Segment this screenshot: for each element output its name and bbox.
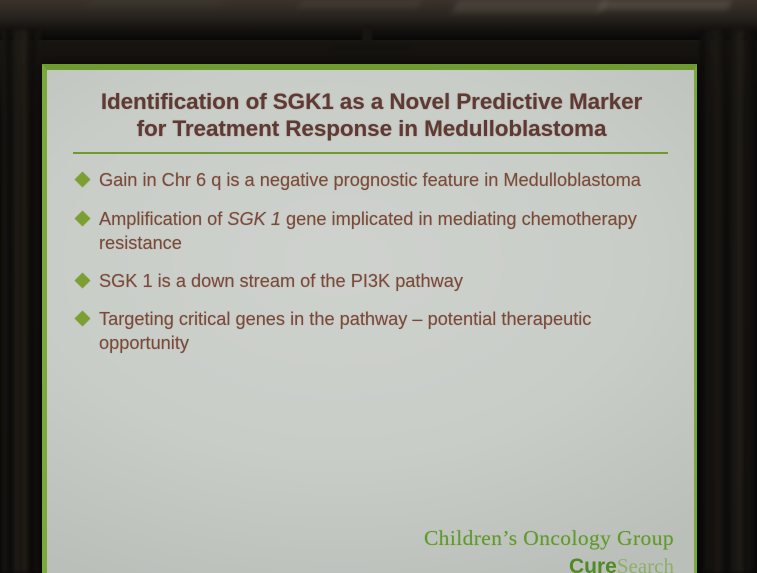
ceiling-panel <box>298 0 423 8</box>
curtain-fold <box>745 30 757 573</box>
diamond-bullet-icon <box>75 172 91 188</box>
bullet-text-pre: SGK 1 is a down stream of the PI3K pathw… <box>99 271 463 291</box>
bullet-text: Targeting critical genes in the pathway … <box>99 307 654 355</box>
ceiling-panel <box>452 0 608 13</box>
ceiling-panel <box>598 0 732 10</box>
curtain-fold <box>700 30 712 573</box>
list-item: Targeting critical genes in the pathway … <box>73 307 670 355</box>
bullet-text: Amplification of SGK 1 gene implicated i… <box>99 207 654 255</box>
ceiling-panel <box>89 0 221 6</box>
bullet-text-pre: Amplification of <box>99 209 227 229</box>
curtain-fold <box>21 30 31 573</box>
organization-name: Children’s Oncology Group <box>424 526 674 551</box>
diamond-bullet-icon <box>75 273 91 289</box>
room-scene: Identification of SGK1 as a Novel Predic… <box>0 0 757 573</box>
list-item: SGK 1 is a down stream of the PI3K pathw… <box>73 269 670 293</box>
slide-title-line-1: Identification of SGK1 as a Novel Predic… <box>77 88 666 115</box>
projector-mount-bar <box>330 45 410 51</box>
ceiling-band <box>0 0 757 40</box>
curtain-fold <box>713 30 727 573</box>
footer-logo: Children’s Oncology Group CureSearch <box>424 526 674 573</box>
curtain-fold <box>12 30 20 573</box>
bullet-list: Gain in Chr 6 q is a negative prognostic… <box>73 168 670 355</box>
curtain-fold <box>2 30 11 573</box>
brand-wordmark-bold: Cure <box>569 555 617 573</box>
curtain-fold <box>728 30 744 573</box>
brand-wordmark: CureSearch <box>424 554 674 573</box>
slide-title-line-2: for Treatment Response in Medulloblastom… <box>77 115 666 142</box>
title-divider-rule <box>73 152 668 154</box>
bullet-text: Gain in Chr 6 q is a negative prognostic… <box>99 168 641 192</box>
brand-wordmark-light: Search <box>617 554 674 573</box>
bullet-text-pre: Gain in Chr 6 q is a negative prognostic… <box>99 170 641 190</box>
presentation-slide: Identification of SGK1 as a Novel Predic… <box>42 64 697 573</box>
curtain-fold <box>32 30 40 573</box>
bullet-text-italic: SGK 1 <box>227 209 281 229</box>
diamond-bullet-icon <box>75 311 91 327</box>
list-item: Amplification of SGK 1 gene implicated i… <box>73 207 670 255</box>
bullet-text-pre: Targeting critical genes in the pathway … <box>99 309 591 353</box>
list-item: Gain in Chr 6 q is a negative prognostic… <box>73 168 670 192</box>
slide-title: Identification of SGK1 as a Novel Predic… <box>77 88 666 142</box>
diamond-bullet-icon <box>75 210 91 226</box>
bullet-text: SGK 1 is a down stream of the PI3K pathw… <box>99 269 463 293</box>
